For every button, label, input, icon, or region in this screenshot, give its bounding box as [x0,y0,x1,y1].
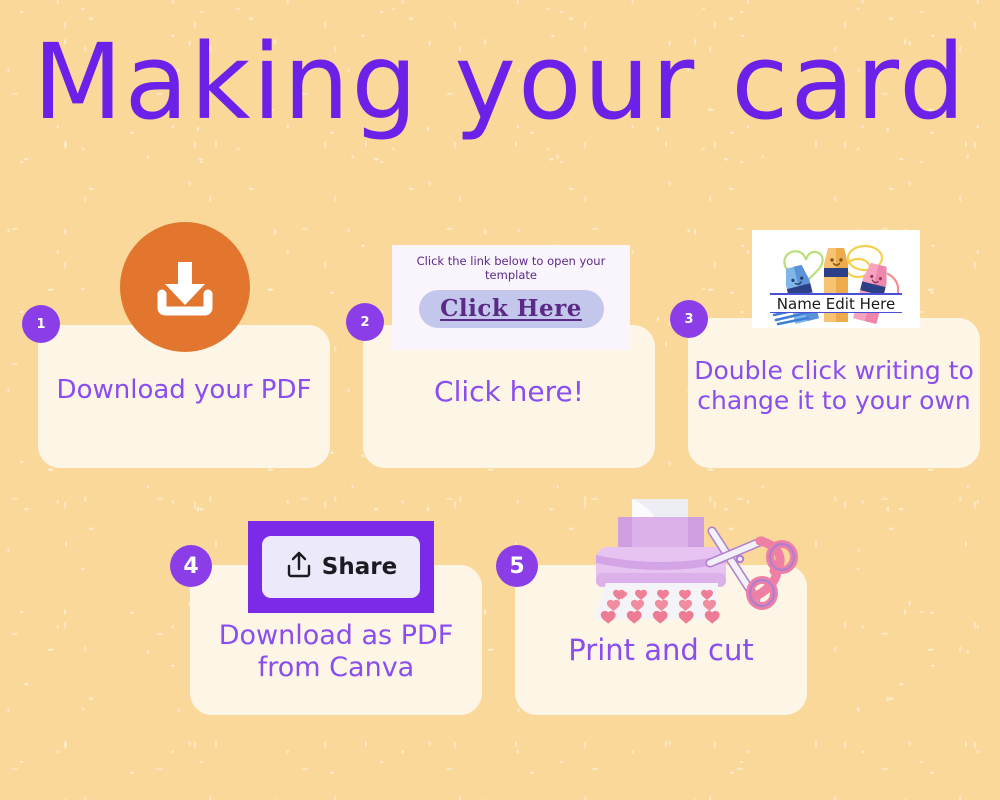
printer-and-scissors-image [570,497,800,627]
step-3-label-line-2: change it to your own [690,386,978,416]
crayon-name-card-image: Name Edit Here [752,230,920,328]
step-5-visual [570,497,800,631]
step-1-label: Download your PDF [38,375,330,406]
step-2-badge: 2 [346,303,384,341]
step-4-label: Download as PDF from Canva [190,620,482,684]
step-1-number: 1 [36,317,45,332]
share-button[interactable]: Share [262,536,420,598]
page-title: Making your card [0,28,1000,137]
step-2-number: 2 [360,315,369,330]
click-here-panel-image: Click the link below to open your templa… [392,245,630,350]
download-circle-icon [120,222,250,352]
step-4-badge: 4 [170,545,212,587]
step-4-visual: Share [248,521,434,613]
click-here-button[interactable]: Click Here [419,290,604,328]
step-1-badge: 1 [22,305,60,343]
step-2-visual: Click the link below to open your templa… [392,245,630,350]
click-here-label: Click Here [440,295,582,322]
step-3-label-line-1: Double click writing to [690,356,978,386]
step-4-label-line-2: from Canva [196,652,476,684]
step-2-label: Click here! [363,375,655,408]
crayon-card-text: Name Edit Here [777,295,895,313]
step-1-visual [120,222,250,352]
step-3-label: Double click writing to change it to you… [684,356,984,415]
step-3-visual: Name Edit Here [752,230,920,328]
step-5-label: Print and cut [515,633,807,667]
step-5-badge: 5 [496,545,538,587]
share-label: Share [322,554,397,580]
step-3-badge: 3 [670,300,708,338]
step-5-number: 5 [509,554,524,579]
click-panel-instruction: Click the link below to open your templa… [411,254,611,283]
share-upload-icon [285,550,313,584]
step-4-number: 4 [183,554,198,579]
step-4-label-line-1: Download as PDF [196,620,476,652]
step-3-number: 3 [684,312,693,327]
canva-share-button-image: Share [248,521,434,613]
